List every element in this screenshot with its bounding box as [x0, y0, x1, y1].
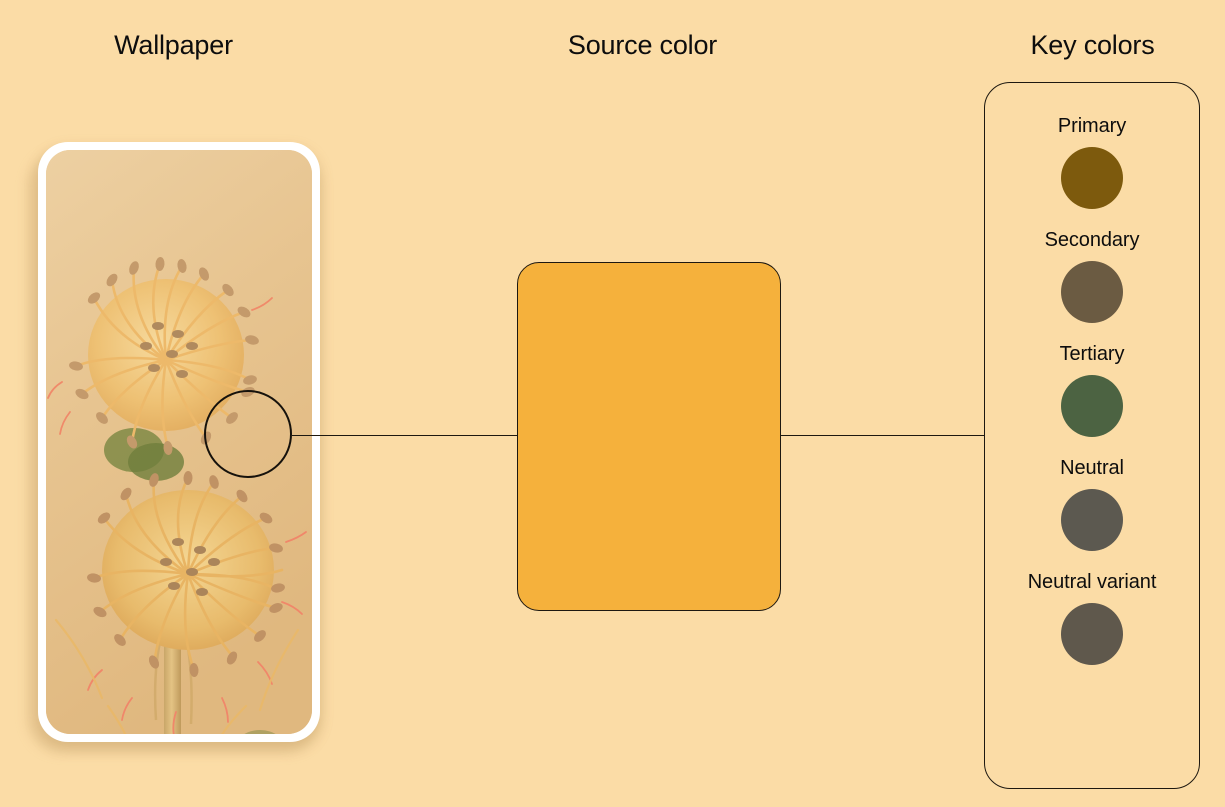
color-sample-magnifier-circle — [204, 390, 292, 478]
key-color-dot-primary — [1061, 147, 1123, 209]
wallpaper-column-title: Wallpaper — [0, 30, 347, 61]
key-color-label-neutral: Neutral — [1060, 457, 1124, 480]
key-color-dot-secondary — [1061, 261, 1123, 323]
connector-line-wallpaper-to-source — [292, 435, 518, 436]
key-color-dot-neutral — [1061, 489, 1123, 551]
key-color-label-secondary: Secondary — [1045, 229, 1140, 252]
diagram-canvas: Wallpaper Source color Key colors — [0, 0, 1225, 807]
key-color-label-neutral-variant: Neutral variant — [1028, 571, 1157, 594]
source-color-column-title: Source color — [450, 30, 835, 61]
key-color-item-neutral-variant: Neutral variant — [1028, 571, 1157, 665]
key-color-item-secondary: Secondary — [1045, 229, 1140, 323]
key-color-label-primary: Primary — [1058, 115, 1126, 138]
key-colors-column-title: Key colors — [960, 30, 1225, 61]
key-color-item-neutral: Neutral — [1060, 457, 1124, 551]
key-colors-panel: Primary Secondary Tertiary Neutral Neutr… — [984, 82, 1200, 789]
key-color-dot-tertiary — [1061, 375, 1123, 437]
key-color-item-primary: Primary — [1058, 115, 1126, 209]
key-color-dot-neutral-variant — [1061, 603, 1123, 665]
key-color-label-tertiary: Tertiary — [1060, 343, 1125, 366]
connector-line-source-to-key-colors — [781, 435, 985, 436]
key-color-item-tertiary: Tertiary — [1060, 343, 1125, 437]
source-color-swatch — [517, 262, 781, 611]
